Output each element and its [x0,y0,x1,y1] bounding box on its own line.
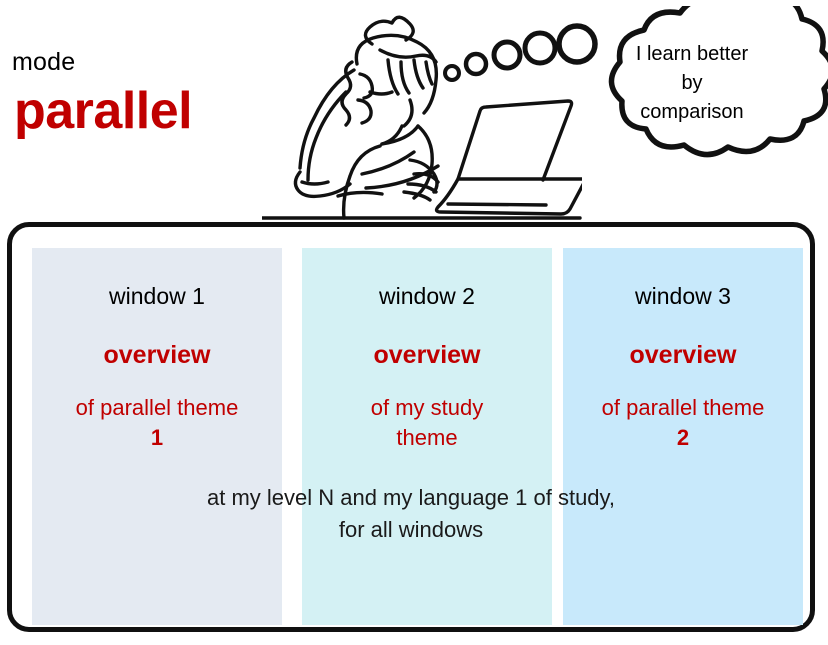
window-panel-3-title: window 3 [563,283,803,310]
window-panel-2-number: theme [302,423,552,453]
window-panel-2-overview: overview [302,341,552,370]
window-panel-1-subtitle: of parallel theme 1 [32,393,282,453]
window-panel-3-subtitle-text: of parallel theme [602,395,765,420]
window-panel-3-subtitle: of parallel theme 2 [563,393,803,453]
window-panel-1-overview: overview [32,341,282,370]
bubble-line-1: I learn better [592,40,792,69]
window-panel-2-title: window 2 [302,283,552,310]
window-panel-1-subtitle-text: of parallel theme [76,395,239,420]
window-panel-3[interactable]: window 3 overview of parallel theme 2 [563,248,803,625]
window-panel-1[interactable]: window 1 overview of parallel theme 1 [32,248,282,625]
header-area: mode parallel [0,0,828,222]
window-panel-3-number: 2 [563,423,803,453]
window-panel-3-overview: overview [563,341,803,370]
mode-label: mode [12,48,75,76]
window-panel-1-title: window 1 [32,283,282,310]
windows-frame: window 1 overview of parallel theme 1 wi… [7,222,815,632]
bubble-line-3: comparison [592,98,792,127]
bubble-line-2: by [592,69,792,98]
window-panel-2[interactable]: window 2 overview of my study theme [302,248,552,625]
window-panel-2-subtitle-text: of my study [371,395,483,420]
caption-line-2: for all windows [7,514,815,546]
window-panel-2-subtitle: of my study theme [302,393,552,453]
window-panel-1-number: 1 [32,423,282,453]
mode-value: parallel [14,82,192,140]
caption: at my level N and my language 1 of study… [7,482,815,546]
thought-bubble-text: I learn better by comparison [592,40,792,127]
caption-line-1: at my level N and my language 1 of study… [7,482,815,514]
